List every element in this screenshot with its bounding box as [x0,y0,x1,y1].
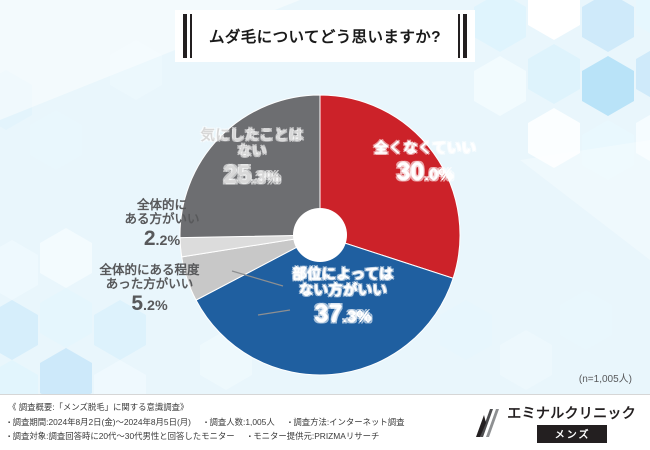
logo-text-block: エミナルクリニック メンズ [507,403,636,443]
survey-row-1: 調査期間:2024年8月2日(金)〜2024年8月5日(月) 調査人数:1,00… [8,416,405,428]
survey-target: 調査対象:調査回答時に20代〜30代男性と回答したモニター [8,430,235,442]
page-title: ムダ毛についてどう思いますか? [209,25,441,47]
title-bar-thin [458,14,460,58]
logo-badge: メンズ [537,425,607,443]
donut-chart: 全くなくていい 30.0% 部位によっては ない方がいい 37.3% 気にしたこ… [140,68,510,378]
page-title-box: ムダ毛についてどう思いますか? [175,10,475,62]
title-bars-right [458,14,467,58]
survey-overview: 《 調査概要:「メンズ脱毛」に関する意識調査》 調査期間:2024年8月2日(金… [8,401,405,445]
title-bars-left [183,14,192,58]
donut-hole [293,208,347,262]
survey-method: 調査方法:インターネット調査 [289,416,405,428]
title-bar-thick [183,14,187,58]
survey-period: 調査期間:2024年8月2日(金)〜2024年8月5日(月) [8,416,191,428]
footer: 《 調査概要:「メンズ脱毛」に関する意識調査》 調査期間:2024年8月2日(金… [0,394,650,450]
donut-slice-4 [180,95,320,238]
donut-chart-svg [140,68,510,378]
logo-name: エミナルクリニック [507,403,636,423]
title-bar-thick [463,14,467,58]
survey-row-2: 調査対象:調査回答時に20代〜30代男性と回答したモニター モニター提供元:PR… [8,430,405,442]
survey-count: 調査人数:1,005人 [205,416,275,428]
title-bar-thin [190,14,192,58]
sample-size-note: (n=1,005人) [579,370,632,385]
survey-overview-heading: 《 調査概要:「メンズ脱毛」に関する意識調査》 [8,401,405,413]
survey-provider: モニター提供元:PRIZMAリサーチ [249,430,380,442]
logo-stripes-icon [476,407,502,437]
brand-logo: エミナルクリニック メンズ [476,403,636,443]
